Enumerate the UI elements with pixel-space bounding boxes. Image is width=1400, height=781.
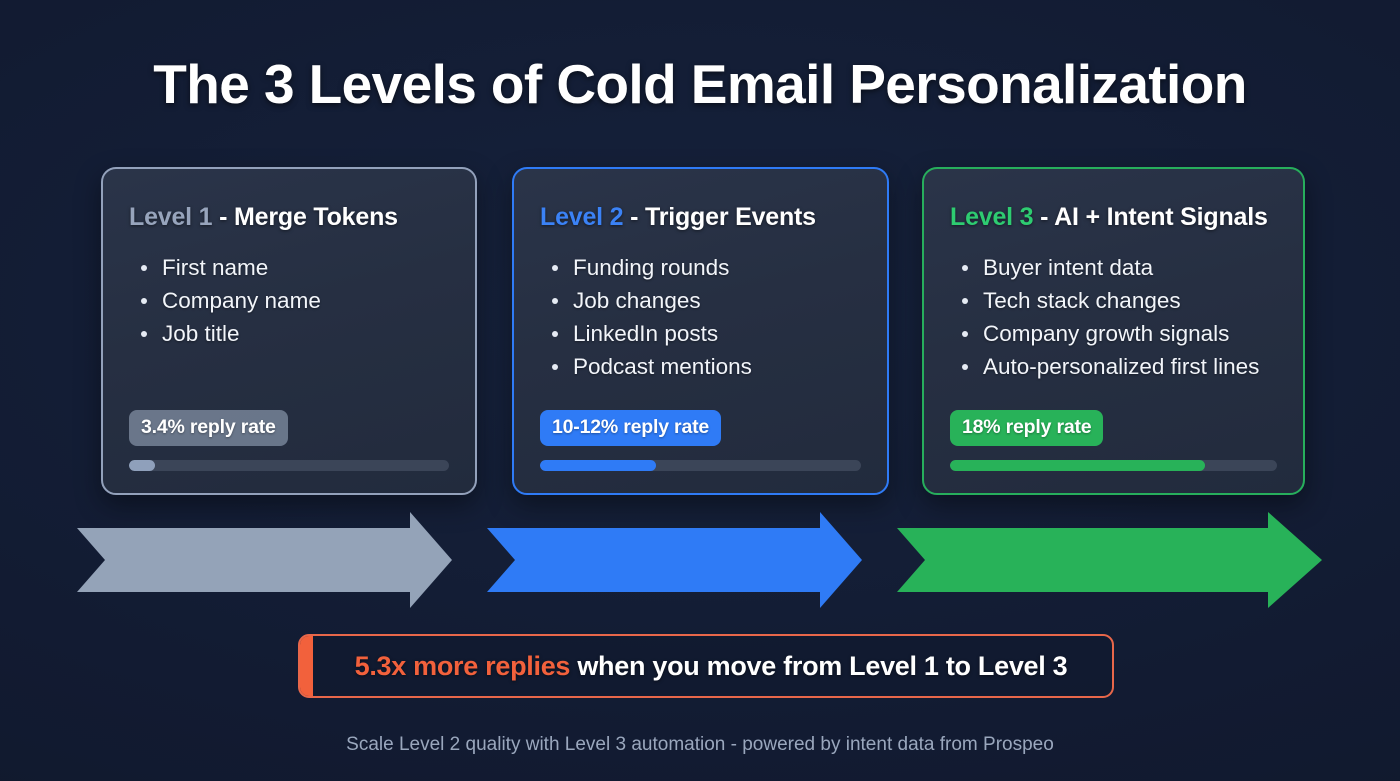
- level-card-1: Level 1 - Merge Tokens First name Compan…: [101, 167, 477, 495]
- card-1-separator: -: [212, 203, 234, 231]
- list-item: Funding rounds: [544, 251, 861, 284]
- card-1-progress-track: [129, 460, 449, 471]
- list-item: Job changes: [544, 284, 861, 317]
- card-3-progress-track: [950, 460, 1277, 471]
- arrow-level-1-icon: [77, 512, 452, 608]
- card-3-progress-fill: [950, 460, 1205, 471]
- infographic-canvas: The 3 Levels of Cold Email Personalizati…: [0, 0, 1400, 781]
- card-1-progress-fill: [129, 460, 155, 471]
- card-1-bullet-list: First name Company name Job title: [129, 251, 449, 350]
- card-2-name: Trigger Events: [645, 203, 816, 231]
- card-3-reply-rate-badge: 18% reply rate: [950, 410, 1103, 446]
- card-3-name: AI + Intent Signals: [1054, 203, 1268, 231]
- list-item: Buyer intent data: [954, 251, 1277, 284]
- card-1-name: Merge Tokens: [234, 203, 398, 231]
- card-2-progress-fill: [540, 460, 656, 471]
- card-2-bullet-list: Funding rounds Job changes LinkedIn post…: [540, 251, 861, 383]
- arrow-level-3-icon: [897, 512, 1322, 608]
- card-3-level-label: Level 3: [950, 203, 1033, 231]
- card-1-footer: 3.4% reply rate: [129, 410, 449, 471]
- callout-rest: when you move from Level 1 to Level 3: [570, 651, 1067, 681]
- card-1-level-label: Level 1: [129, 203, 212, 231]
- arrow-level-2-icon: [487, 512, 862, 608]
- callout-highlight: 5.3x more replies: [355, 651, 571, 681]
- result-callout: 5.3x more replies when you move from Lev…: [298, 634, 1114, 698]
- list-item: LinkedIn posts: [544, 317, 861, 350]
- list-item: Company name: [133, 284, 449, 317]
- card-1-reply-rate-badge: 3.4% reply rate: [129, 410, 288, 446]
- card-2-separator: -: [623, 203, 645, 231]
- card-2-reply-rate-badge: 10-12% reply rate: [540, 410, 721, 446]
- list-item: Podcast mentions: [544, 350, 861, 383]
- card-2-level-label: Level 2: [540, 203, 623, 231]
- card-3-bullet-list: Buyer intent data Tech stack changes Com…: [950, 251, 1277, 383]
- card-2-heading: Level 2 - Trigger Events: [540, 203, 861, 232]
- card-2-footer: 10-12% reply rate: [540, 410, 861, 471]
- card-3-footer: 18% reply rate: [950, 410, 1277, 471]
- page-title: The 3 Levels of Cold Email Personalizati…: [0, 52, 1400, 116]
- list-item: First name: [133, 251, 449, 284]
- level-card-2: Level 2 - Trigger Events Funding rounds …: [512, 167, 889, 495]
- list-item: Tech stack changes: [954, 284, 1277, 317]
- level-card-3: Level 3 - AI + Intent Signals Buyer inte…: [922, 167, 1305, 495]
- list-item: Company growth signals: [954, 317, 1277, 350]
- list-item: Auto-personalized first lines: [954, 350, 1277, 383]
- callout-accent-bar: [299, 635, 313, 698]
- callout-text: 5.3x more replies when you move from Lev…: [300, 651, 1112, 682]
- card-1-heading: Level 1 - Merge Tokens: [129, 203, 449, 232]
- card-3-heading: Level 3 - AI + Intent Signals: [950, 203, 1277, 232]
- list-item: Job title: [133, 317, 449, 350]
- progression-arrow-band: [0, 505, 1400, 615]
- footer-note: Scale Level 2 quality with Level 3 autom…: [0, 734, 1400, 756]
- card-2-progress-track: [540, 460, 861, 471]
- card-3-separator: -: [1033, 203, 1054, 231]
